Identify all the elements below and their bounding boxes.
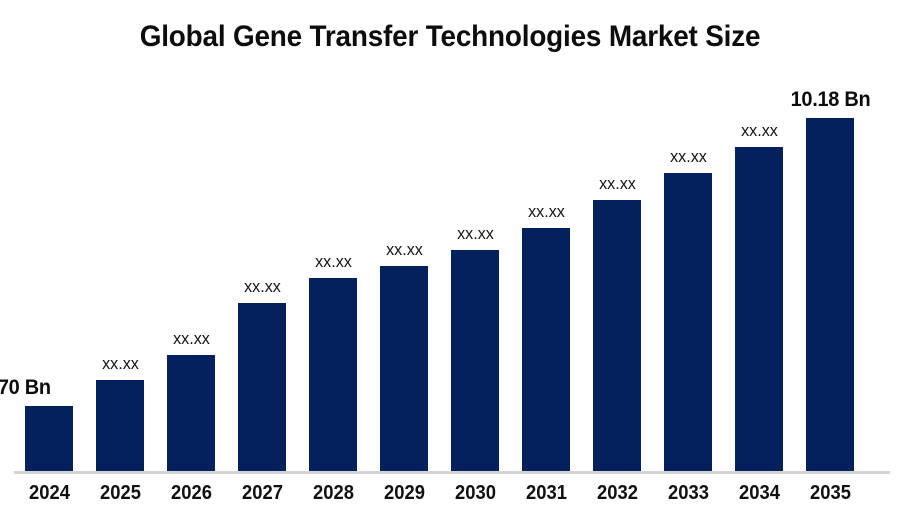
x-tick-label-2024: 2024 <box>17 482 82 505</box>
bar-group-2026[interactable]: xx.xx2026 <box>156 0 227 471</box>
bar-2024[interactable] <box>25 406 73 471</box>
bar-2027[interactable] <box>238 303 286 471</box>
bar-value-label-2027: xx.xx <box>220 277 305 297</box>
bar-value-label-2026: xx.xx <box>149 329 234 349</box>
bar-group-2032[interactable]: xx.xx2032 <box>582 0 653 471</box>
bar-2029[interactable] <box>380 266 428 471</box>
bar-2030[interactable] <box>451 250 499 471</box>
x-tick-label-2026: 2026 <box>159 482 224 505</box>
bar-group-2033[interactable]: xx.xx2033 <box>653 0 724 471</box>
x-tick-label-2031: 2031 <box>514 482 579 505</box>
x-tick-label-2032: 2032 <box>585 482 650 505</box>
x-axis-line <box>14 471 890 474</box>
bar-group-2031[interactable]: xx.xx2031 <box>511 0 582 471</box>
bar-value-label-2024: 3.70 Bn <box>0 376 51 400</box>
x-tick-label-2027: 2027 <box>230 482 295 505</box>
x-tick-label-2025: 2025 <box>88 482 153 505</box>
bar-value-label-2030: xx.xx <box>433 224 518 244</box>
bar-value-label-2035: 10.18 Bn <box>788 88 873 112</box>
bar-value-label-2025: xx.xx <box>78 354 163 374</box>
bar-group-2030[interactable]: xx.xx2030 <box>440 0 511 471</box>
bar-value-label-2034: xx.xx <box>717 121 802 141</box>
bar-2028[interactable] <box>309 278 357 471</box>
bar-group-2027[interactable]: xx.xx2027 <box>227 0 298 471</box>
bar-2025[interactable] <box>96 380 144 471</box>
x-tick-label-2029: 2029 <box>372 482 437 505</box>
bar-value-label-2032: xx.xx <box>575 174 660 194</box>
bar-group-2028[interactable]: xx.xx2028 <box>298 0 369 471</box>
bar-2035[interactable] <box>806 118 854 471</box>
x-tick-label-2034: 2034 <box>727 482 792 505</box>
plot-area: 3.70 Bn2024xx.xx2025xx.xx2026xx.xx2027xx… <box>0 0 900 525</box>
bar-2034[interactable] <box>735 147 783 471</box>
bar-group-2035[interactable]: 10.18 Bn2035 <box>795 0 866 471</box>
bar-2026[interactable] <box>167 355 215 471</box>
chart-container: Global Gene Transfer Technologies Market… <box>0 0 900 525</box>
bar-group-2034[interactable]: xx.xx2034 <box>724 0 795 471</box>
x-tick-label-2035: 2035 <box>798 482 863 505</box>
x-tick-label-2028: 2028 <box>301 482 366 505</box>
bar-group-2024[interactable]: 3.70 Bn2024 <box>14 0 85 471</box>
bar-value-label-2031: xx.xx <box>504 202 589 222</box>
bar-group-2025[interactable]: xx.xx2025 <box>85 0 156 471</box>
bar-2032[interactable] <box>593 200 641 471</box>
x-tick-label-2030: 2030 <box>443 482 508 505</box>
x-tick-label-2033: 2033 <box>656 482 721 505</box>
bar-2031[interactable] <box>522 228 570 471</box>
bar-value-label-2033: xx.xx <box>646 147 731 167</box>
bar-group-2029[interactable]: xx.xx2029 <box>369 0 440 471</box>
bar-2033[interactable] <box>664 173 712 471</box>
